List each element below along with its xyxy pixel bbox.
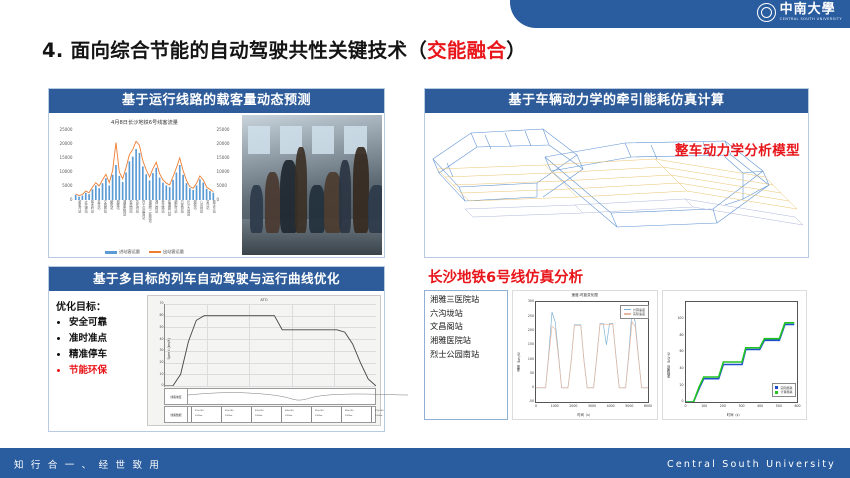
line-data-marker: K1+250 — [195, 410, 203, 412]
sd-x-tick: 6000 — [644, 404, 652, 408]
x-tick-label: 大托铺站 — [84, 200, 89, 213]
panel-title-ato: 基于多目标的列车自动驾驶与运行曲线优化 — [49, 267, 384, 291]
chart-plot-area: 0050005000100001000015000150002000020000… — [74, 130, 215, 200]
en-x-tick: 600 — [794, 404, 800, 408]
sd-y-tick: 200 — [528, 329, 534, 332]
panel-title-line6: 长沙地铁6号线仿真分析 — [424, 266, 807, 290]
line-data-marker: K6+250 — [345, 410, 353, 412]
sd-y-tick: 50 — [530, 372, 534, 375]
x-tick-label: 谢家湾站 — [77, 200, 82, 213]
panel-caption-dynamics: 整车动力学分析模型 — [675, 139, 800, 159]
legend-label-calc-energy: 计算能耗 — [780, 390, 792, 394]
line-data-length: 1200m — [285, 415, 292, 417]
line-data-marker: K3+250 — [255, 410, 263, 412]
panel-title-dynamics: 基于车辆动力学的牵引能耗仿真计算 — [425, 89, 808, 113]
logo-name-en: CENTRAL SOUTH UNIVERSITY — [780, 18, 842, 22]
station-list: 湘雅三医院站六沟垅站文昌阁站湘雅医院站烈士公园南站 — [424, 290, 508, 420]
panel-passenger-prediction: 基于运行线路的载客量动态预测 4月8日长沙地铁6号线客流量 0050005000… — [48, 88, 385, 258]
line-data-marker: K2+250 — [225, 410, 233, 412]
x-tick-label: 八沟垅站 — [199, 200, 204, 213]
chart-speed-distance: 速度-时距变化图 -500501001502002503000100020003… — [512, 290, 658, 420]
legend-energy: 实际能耗 计算能耗 — [772, 383, 796, 397]
x-tick-label: 万家丽站 — [180, 200, 185, 213]
sd-y-tick: 150 — [528, 343, 534, 346]
en-x-tick: 500 — [776, 404, 782, 408]
line-data-length: 1200m — [255, 415, 262, 417]
speed-distance-y-label: 速度（km/h） — [516, 350, 521, 372]
en-y-tick: 80 — [679, 334, 683, 337]
en-y-tick: 100 — [677, 317, 683, 320]
strip-label-gradient: 线路坡度 — [165, 389, 188, 404]
line-data-length: 1200m — [195, 415, 202, 417]
page-title-main: 4. 面向综合节能的自动驾驶共性关键技术（ — [42, 39, 427, 62]
vehicle-wireframe-diagram — [425, 113, 808, 257]
sd-x-tick: 5000 — [625, 404, 633, 408]
x-tick-label: 文昌阁站 — [103, 200, 108, 213]
energy-y-label: 能耗累积（kW·h） — [666, 350, 671, 378]
speed-distance-x-label: 时间（s） — [513, 412, 657, 417]
page-title-highlight: 交能融合 — [427, 39, 506, 62]
sd-y-tick: -50 — [529, 400, 534, 403]
panel-line6-simulation: 长沙地铁6号线仿真分析 湘雅三医院站六沟垅站文昌阁站湘雅医院站烈士公园南站 速度… — [424, 266, 807, 430]
chart-legend-passenger: 进站客运量 出站客运量 — [52, 249, 237, 255]
legend-entry-entry-volume: 进站客运量 — [105, 249, 140, 255]
strip-label-linedata: 线路数据 — [165, 407, 188, 422]
ato-y-tick: 10 — [159, 373, 163, 376]
en-x-tick: 400 — [757, 404, 763, 408]
y-tick-label: 25000 — [217, 128, 230, 132]
legend-label-1: 出站客运量 — [163, 249, 184, 254]
y-tick-label: 0 — [70, 198, 73, 202]
x-tick-label: 朝阳村站 — [173, 200, 178, 213]
ato-y-tick: 30 — [159, 349, 163, 352]
x-tick-label: 烈士公园南站 — [141, 200, 146, 219]
y-tick-label: 15000 — [59, 156, 72, 160]
x-tick-label: 湘雅站 — [116, 200, 121, 210]
ato-gradient-strip: 线路坡度 — [164, 388, 376, 405]
line-data-length: 1200m — [345, 415, 352, 417]
legend-label-real-energy: 实际能耗 — [780, 386, 792, 390]
chart-title-speed-distance: 速度-时距变化图 — [513, 293, 657, 298]
legend-entry-exit-volume: 出站客运量 — [149, 249, 184, 255]
x-tick-label: 鹅木岭站 — [90, 200, 95, 213]
ato-y-tick: 20 — [159, 361, 163, 364]
legend-label-real-speed: 实际速度 — [633, 312, 645, 316]
y-tick-label: 20000 — [217, 142, 230, 146]
station-item[interactable]: 烈士公园南站 — [428, 350, 504, 358]
y-tick-label: 10000 — [59, 170, 72, 174]
en-x-tick: 100 — [701, 404, 707, 408]
legend-entry-real-speed: 实际速度 — [624, 312, 645, 317]
y-tick-label: 25000 — [59, 128, 72, 132]
legend-label-0: 进站客运量 — [119, 249, 140, 254]
line-data-marker: K7+250 — [375, 410, 383, 412]
station-item[interactable]: 文昌阁站 — [428, 322, 504, 330]
slide-footer: 知 行 合 一 、 经 世 致 用 Central South Universi… — [0, 450, 850, 478]
chart-title-passenger: 4月8日长沙地铁6号线客流量 — [52, 119, 237, 126]
x-tick-label: 金华站 — [96, 200, 101, 210]
x-tick-label: 星沙站 — [205, 200, 210, 210]
x-tick-label: 湘江路站 — [154, 200, 159, 213]
sd-y-tick: 100 — [528, 358, 534, 361]
x-tick-label: 湘雅附二医院站 — [148, 200, 153, 222]
slide-header: 中南大學 CENTRAL SOUTH UNIVERSITY — [0, 0, 850, 28]
x-tick-label: 长沙大道站 — [186, 200, 191, 216]
y-tick-label: 0 — [217, 198, 220, 202]
sd-y-tick: 300 — [528, 300, 534, 303]
chart-category-labels: 谢家湾站大托铺站鹅木岭站金华站文昌阁站朝阳站湘雅站湘雅医院站松桂园站苏圫垸站烈士… — [74, 200, 215, 248]
sd-y-tick: 250 — [528, 315, 534, 318]
sd-x-tick: 3000 — [588, 404, 596, 408]
line-data-length: 1200m — [225, 415, 232, 417]
goal-item: 精准停车 — [69, 350, 147, 360]
logo-name-cn: 中南大學 — [780, 3, 842, 16]
y-tick-label: 15000 — [217, 156, 230, 160]
ato-line-data-strip: 线路数据 K1+2501200mK2+2501200mK3+2501200mK4… — [164, 406, 376, 423]
sd-x-tick: 1000 — [551, 404, 559, 408]
goal-item: 准时准点 — [69, 334, 147, 344]
chart-energy-cumulative: 0204060801000100200300400500600 能耗累积（kW·… — [662, 290, 808, 420]
legend-entry-calc-energy: 计算能耗 — [775, 390, 792, 395]
page-title-tail: ） — [506, 39, 526, 62]
university-logo: 中南大學 CENTRAL SOUTH UNIVERSITY — [757, 3, 842, 22]
x-tick-label: 湘雅医院站 — [122, 200, 127, 216]
station-item[interactable]: 湘雅三医院站 — [428, 295, 504, 303]
page-title: 4. 面向综合节能的自动驾驶共性关键技术（交能融合） — [42, 34, 526, 63]
station-item[interactable]: 六沟垅站 — [428, 309, 504, 317]
panel-dynamics-simulation: 基于车辆动力学的牵引能耗仿真计算 — [424, 88, 809, 258]
ato-plot-area: Speed (km/h) 706050403020100 — [164, 304, 376, 387]
en-y-tick: 0 — [681, 400, 683, 403]
en-x-tick: 0 — [684, 404, 686, 408]
chart-ato-profile: ATO Speed (km/h) 706050403020100 线路坡度 线路… — [147, 295, 381, 426]
ato-y-tick: 40 — [159, 338, 163, 341]
optimization-goals: 优化目标： 安全可靠准时准点精准停车节能环保 — [49, 291, 147, 429]
y-tick-label: 20000 — [59, 142, 72, 146]
goals-list: 安全可靠准时准点精准停车节能环保 — [56, 318, 147, 376]
en-x-tick: 200 — [720, 404, 726, 408]
ato-y-tick: 70 — [159, 302, 163, 305]
ato-y-tick: 60 — [159, 314, 163, 317]
chart-title-ato: ATO — [148, 298, 380, 302]
footer-university-name: Central South University — [667, 459, 836, 470]
energy-x-label: 时间（s） — [663, 412, 807, 417]
panel-title-passenger: 基于运行线路的载客量动态预测 — [49, 89, 384, 113]
chart-passenger-flow: 4月8日长沙地铁6号线客流量 0050005000100001000015000… — [52, 115, 237, 255]
x-tick-label: 松桂园站 — [128, 200, 133, 213]
goal-item: 节能环保 — [69, 366, 147, 376]
legend-speed-distance: 计算速度 实际速度 — [620, 305, 648, 319]
x-tick-label: 朝阳站 — [109, 200, 114, 210]
sd-x-tick: 2000 — [569, 404, 577, 408]
x-tick-label: 黄花路站 — [161, 200, 166, 213]
sd-y-tick: 0 — [532, 386, 534, 389]
footer-motto: 知 行 合 一 、 经 世 致 用 — [14, 457, 161, 471]
line-data-marker: K5+250 — [315, 410, 323, 412]
en-y-tick: 60 — [679, 350, 683, 353]
line-data-length: 1200m — [375, 415, 382, 417]
y-tick-label: 10000 — [217, 170, 230, 174]
en-x-tick: 300 — [738, 404, 744, 408]
line-data-length: 1200m — [315, 415, 322, 417]
y-tick-label: 5000 — [217, 184, 227, 188]
legend-label-calc-speed: 计算速度 — [633, 308, 645, 312]
x-tick-label: 麓平东站 — [212, 200, 217, 213]
x-tick-label: 建湘路口站 — [167, 200, 172, 216]
ato-y-tick: 50 — [159, 326, 163, 329]
university-seal-icon — [757, 3, 776, 22]
line-data-marker: K4+250 — [285, 410, 293, 412]
metro-interior-photo — [242, 115, 382, 255]
sd-x-tick: 0 — [535, 404, 537, 408]
goal-item: 安全可靠 — [69, 318, 147, 328]
en-y-tick: 20 — [679, 384, 683, 387]
x-tick-label: 湘樟站 — [193, 200, 198, 210]
en-y-tick: 40 — [679, 367, 683, 370]
y-tick-label: 5000 — [62, 184, 72, 188]
station-item[interactable]: 湘雅医院站 — [428, 336, 504, 344]
sd-x-tick: 4000 — [607, 404, 615, 408]
goals-heading: 优化目标： — [56, 298, 147, 313]
panel-ato-optimization: 基于多目标的列车自动驾驶与运行曲线优化 优化目标： 安全可靠准时准点精准停车节能… — [48, 266, 385, 432]
x-tick-label: 苏圫垸站 — [135, 200, 140, 213]
